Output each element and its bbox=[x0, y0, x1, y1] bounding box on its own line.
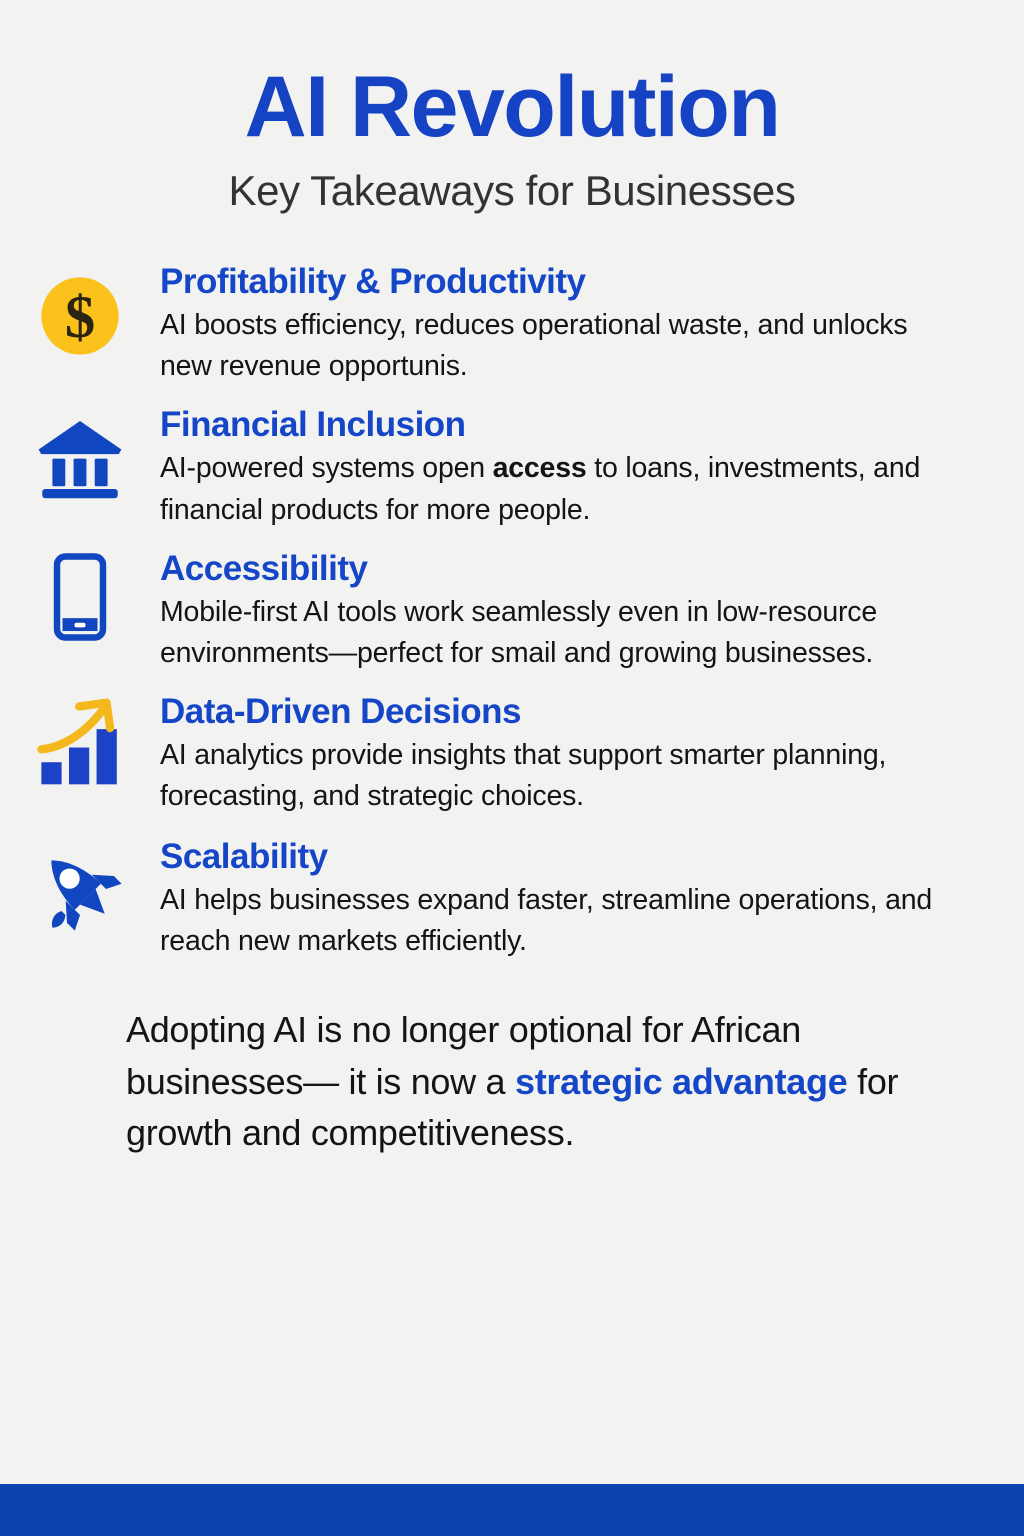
item-title: Financial Inclusion bbox=[160, 405, 940, 445]
text-column: Data-Driven Decisions AI analytics provi… bbox=[160, 692, 968, 817]
icon-column bbox=[0, 692, 160, 788]
list-item: $ Profitability & Productivity AI boosts… bbox=[0, 262, 968, 387]
icon-column: $ bbox=[0, 262, 160, 362]
infographic-page: AI Revolution Key Takeaways for Business… bbox=[0, 0, 1024, 1536]
item-description: AI-powered systems open access to loans,… bbox=[160, 448, 940, 530]
desc-pre: AI helps businesses expand faster, strea… bbox=[160, 884, 932, 957]
icon-column bbox=[0, 549, 160, 643]
bank-icon bbox=[34, 409, 126, 501]
desc-pre: AI-powered systems open bbox=[160, 452, 493, 484]
item-title: Accessibility bbox=[160, 549, 940, 589]
item-title: Scalability bbox=[160, 837, 940, 877]
closing-accent: strategic advantage bbox=[515, 1061, 847, 1102]
text-column: Profitability & Productivity AI boosts e… bbox=[160, 262, 968, 387]
mobile-phone-icon bbox=[34, 551, 126, 643]
list-item: Accessibility Mobile-first AI tools work… bbox=[0, 549, 968, 674]
bar-chart-growth-icon bbox=[34, 696, 126, 788]
closing-statement: Adopting AI is no longer optional for Af… bbox=[0, 1004, 1024, 1157]
text-column: Scalability AI helps businesses expand f… bbox=[160, 837, 968, 962]
text-column: Accessibility Mobile-first AI tools work… bbox=[160, 549, 968, 674]
item-description: AI analytics provide insights that suppo… bbox=[160, 735, 940, 817]
desc-pre: AI boosts efficiency, reduces operationa… bbox=[160, 309, 907, 382]
rocket-icon bbox=[34, 843, 126, 935]
footer-bar bbox=[0, 1484, 1024, 1536]
item-title: Profitability & Productivity bbox=[160, 262, 940, 302]
takeaway-list: $ Profitability & Productivity AI boosts… bbox=[0, 262, 1024, 963]
list-item: Data-Driven Decisions AI analytics provi… bbox=[0, 692, 968, 817]
icon-column bbox=[0, 405, 160, 501]
desc-pre: AI analytics provide insights that suppo… bbox=[160, 739, 886, 812]
item-title: Data-Driven Decisions bbox=[160, 692, 940, 732]
desc-pre: Mobile-first AI tools work seamlessly ev… bbox=[160, 596, 877, 669]
list-item: Financial Inclusion AI-powered systems o… bbox=[0, 405, 968, 530]
header: AI Revolution Key Takeaways for Business… bbox=[0, 0, 1024, 214]
item-description: Mobile-first AI tools work seamlessly ev… bbox=[160, 592, 940, 674]
dollar-coin-icon: $ bbox=[34, 270, 126, 362]
list-item: Scalability AI helps businesses expand f… bbox=[0, 837, 968, 962]
item-description: AI helps businesses expand faster, strea… bbox=[160, 880, 940, 962]
text-column: Financial Inclusion AI-powered systems o… bbox=[160, 405, 968, 530]
item-description: AI boosts efficiency, reduces operationa… bbox=[160, 305, 940, 387]
svg-text:$: $ bbox=[65, 284, 95, 351]
desc-bold: access bbox=[493, 452, 587, 484]
page-title: AI Revolution bbox=[0, 64, 1024, 152]
page-subtitle: Key Takeaways for Businesses bbox=[0, 168, 1024, 214]
icon-column bbox=[0, 837, 160, 935]
